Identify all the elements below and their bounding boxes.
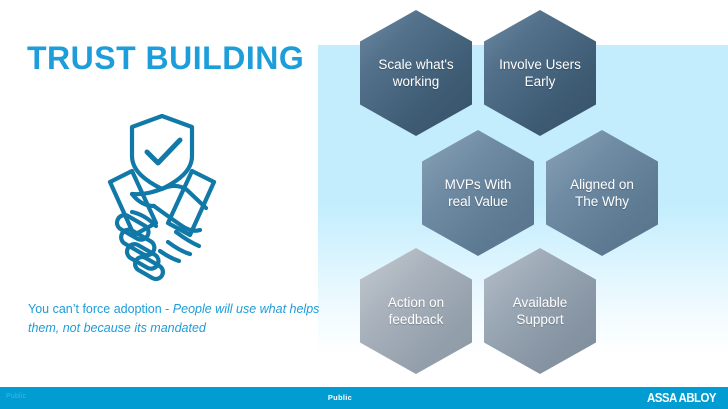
caption-text: You can’t force adoption - People will u… bbox=[28, 300, 328, 339]
hex-label: Aligned on The Why bbox=[560, 176, 644, 211]
footer-classification: Public bbox=[0, 393, 704, 402]
handshake-shield-icon bbox=[72, 102, 252, 282]
slide-canvas: TRUST BUILDING bbox=[0, 0, 728, 409]
footer-bar: Public Public ASSA ABLOY bbox=[0, 387, 728, 409]
hex-label: Involve Users Early bbox=[498, 56, 582, 91]
caption-lead: You can’t force adoption - bbox=[28, 302, 173, 316]
hex-label: Action on feedback bbox=[374, 294, 458, 329]
assa-abloy-logo: ASSA ABLOY bbox=[647, 391, 716, 405]
hex-label: Available Support bbox=[498, 294, 582, 329]
hex-label: MVPs With real Value bbox=[436, 176, 520, 211]
hex-label: Scale what's working bbox=[374, 56, 458, 91]
page-title: TRUST BUILDING bbox=[27, 40, 304, 77]
